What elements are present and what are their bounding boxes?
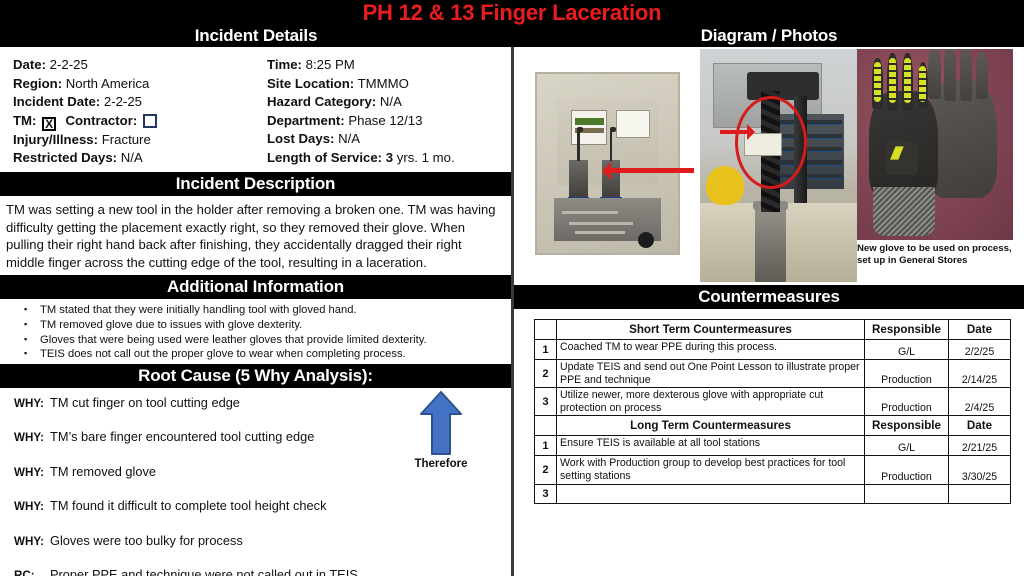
row-number: 1 xyxy=(535,436,557,456)
row-responsible: G/L xyxy=(865,340,949,360)
list-item: TM stated that they were initially handl… xyxy=(6,303,505,318)
why-text: TM cut finger on tool cutting edge xyxy=(50,395,240,410)
table-row: 3 Utilize newer, more dexterous glove wi… xyxy=(535,388,1011,416)
section-header-additional-information: Additional Information xyxy=(0,275,511,299)
row-text xyxy=(557,484,865,503)
row-text: Update TEIS and send out One Point Lesso… xyxy=(557,360,865,388)
field-length-of-service-unit: yrs. 1 mo. xyxy=(393,150,455,165)
row-number: 3 xyxy=(535,388,557,416)
photo-gallery: New glove to be used on process, set up … xyxy=(514,47,1024,285)
section-header-countermeasures: Countermeasures xyxy=(514,285,1024,309)
photo-caption: New glove to be used on process, set up … xyxy=(857,243,1021,267)
field-department-label: Department: xyxy=(267,113,345,128)
field-incident-date-label: Incident Date: xyxy=(13,94,100,109)
rc-label: RC: xyxy=(14,568,50,576)
row-date: 3/30/25 xyxy=(949,456,1011,484)
band-diagram-photos: Diagram / Photos xyxy=(514,26,1024,47)
table-row: 2 Work with Production group to develop … xyxy=(535,456,1011,484)
incident-details-grid: Date: 2-2-25 Region: North America Incid… xyxy=(0,47,511,172)
field-injury-illness-value: Fracture xyxy=(102,132,151,147)
band-incident-details: Incident Details xyxy=(0,26,512,47)
why-label: WHY: xyxy=(14,534,50,549)
table-row: 3 xyxy=(535,484,1011,503)
why-label: WHY: xyxy=(14,499,50,514)
row-text: Coached TM to wear PPE during this proce… xyxy=(557,340,865,360)
left-column: Date: 2-2-25 Region: North America Incid… xyxy=(0,47,511,576)
row-responsible: Production xyxy=(865,388,949,416)
tm-checkbox[interactable]: X xyxy=(42,117,56,131)
why-text: TM removed glove xyxy=(50,464,156,479)
row-text: Ensure TEIS is available at all tool sta… xyxy=(557,436,865,456)
why-text: Gloves were too bulky for process xyxy=(50,533,243,548)
row-number: 2 xyxy=(535,456,557,484)
why-label: WHY: xyxy=(14,430,50,445)
therefore-annotation: Therefore xyxy=(393,390,489,470)
field-site-location: Site Location: TMMMO xyxy=(267,75,511,94)
row-date: 2/4/25 xyxy=(949,388,1011,416)
row-date: 2/2/25 xyxy=(949,340,1011,360)
field-date: Date: 2-2-25 xyxy=(13,56,257,75)
col-header-short-term: Short Term Countermeasures xyxy=(557,320,865,340)
field-hazard-category-label: Hazard Category: xyxy=(267,94,376,109)
field-time-value: 8:25 PM xyxy=(306,57,355,72)
col-header-responsible: Responsible xyxy=(865,320,949,340)
contractor-checkbox[interactable] xyxy=(143,114,157,128)
field-injury-illness-label: Injury/Illness: xyxy=(13,132,98,147)
field-lost-days: Lost Days: N/A xyxy=(267,130,511,149)
field-region: Region: North America xyxy=(13,75,257,94)
table-row: 2 Update TEIS and send out One Point Les… xyxy=(535,360,1011,388)
page-title: PH 12 & 13 Finger Laceration xyxy=(0,0,1024,26)
countermeasures-table: Short Term Countermeasures Responsible D… xyxy=(534,319,1011,504)
field-length-of-service: Length of Service: 3 yrs. 1 mo. xyxy=(267,149,511,168)
field-tm-contractor: TM: X Contractor: xyxy=(13,112,257,131)
row-number: 1 xyxy=(535,340,557,360)
field-restricted-days-label: Restricted Days: xyxy=(13,150,117,165)
row-responsible: G/L xyxy=(865,436,949,456)
field-incident-date: Incident Date: 2-2-25 xyxy=(13,93,257,112)
field-length-of-service-number: 3 xyxy=(386,150,393,165)
list-item: TM removed glove due to issues with glov… xyxy=(6,318,505,333)
root-cause-body: WHY:TM cut finger on tool cutting edge W… xyxy=(0,388,511,556)
up-arrow-icon xyxy=(393,390,489,456)
row-date: 2/21/25 xyxy=(949,436,1011,456)
countermeasures-table-wrap: Short Term Countermeasures Responsible D… xyxy=(514,309,1024,504)
therefore-label: Therefore xyxy=(393,458,489,470)
field-contractor-label: Contractor: xyxy=(65,113,137,128)
field-site-location-label: Site Location: xyxy=(267,76,354,91)
cutting-tool-closeup-photo xyxy=(700,49,857,282)
row-number: 3 xyxy=(535,484,557,503)
field-department: Department: Phase 12/13 xyxy=(267,112,511,131)
why-row: WHY:Gloves were too bulky for process xyxy=(0,533,511,549)
list-item: TEIS does not call out the proper glove … xyxy=(6,347,505,362)
table-row: 1 Ensure TEIS is available at all tool s… xyxy=(535,436,1011,456)
incident-report-page: PH 12 & 13 Finger Laceration Incident De… xyxy=(0,0,1024,576)
red-pointer-arrow-icon xyxy=(604,168,694,173)
row-responsible: Production xyxy=(865,360,949,388)
table-subheader-row: Long Term Countermeasures Responsible Da… xyxy=(535,416,1011,436)
field-date-label: Date: xyxy=(13,57,46,72)
field-department-value: Phase 12/13 xyxy=(348,113,422,128)
row-date xyxy=(949,484,1011,503)
field-time-label: Time: xyxy=(267,57,302,72)
field-site-location-value: TMMMO xyxy=(358,76,409,91)
table-header-row: Short Term Countermeasures Responsible D… xyxy=(535,320,1011,340)
field-incident-date-value: 2-2-25 xyxy=(104,94,142,109)
row-responsible xyxy=(865,484,949,503)
field-restricted-days: Restricted Days: N/A xyxy=(13,149,257,168)
section-header-root-cause: Root Cause (5 Why Analysis): xyxy=(0,364,511,388)
additional-information-list: TM stated that they were initially handl… xyxy=(0,299,511,363)
why-row: WHY:TM found it difficult to complete to… xyxy=(0,498,511,514)
col-header-date: Date xyxy=(949,320,1011,340)
section-header-incident-description: Incident Description xyxy=(0,172,511,196)
col-header-num xyxy=(535,320,557,340)
field-hazard-category: Hazard Category: N/A xyxy=(267,93,511,112)
col-header-num-long xyxy=(535,416,557,436)
incident-details-left-column: Date: 2-2-25 Region: North America Incid… xyxy=(0,56,257,168)
row-date: 2/14/25 xyxy=(949,360,1011,388)
field-lost-days-value: N/A xyxy=(338,131,360,146)
new-glove-photo xyxy=(857,49,1013,240)
col-header-responsible-long: Responsible xyxy=(865,416,949,436)
row-number: 2 xyxy=(535,360,557,388)
incident-details-right-column: Time: 8:25 PM Site Location: TMMMO Hazar… xyxy=(257,56,511,168)
tool-holder-machine-photo xyxy=(521,54,694,273)
field-restricted-days-value: N/A xyxy=(121,150,143,165)
field-region-label: Region: xyxy=(13,76,62,91)
field-lost-days-label: Lost Days: xyxy=(267,131,334,146)
field-time: Time: 8:25 PM xyxy=(267,56,511,75)
right-column: New glove to be used on process, set up … xyxy=(514,47,1024,576)
field-injury-illness: Injury/Illness: Fracture xyxy=(13,131,257,150)
rc-text: Proper PPE and technique were not called… xyxy=(50,567,358,576)
why-text: TM found it difficult to complete tool h… xyxy=(50,498,326,513)
why-label: WHY: xyxy=(14,396,50,411)
field-date-value: 2-2-25 xyxy=(50,57,88,72)
list-item: Gloves that were being used were leather… xyxy=(6,333,505,348)
why-text: TM’s bare finger encountered tool cuttin… xyxy=(50,429,314,444)
row-text: Work with Production group to develop be… xyxy=(557,456,865,484)
row-text: Utilize newer, more dexterous glove with… xyxy=(557,388,865,416)
field-length-of-service-label: Length of Service: xyxy=(267,150,382,165)
row-responsible: Production xyxy=(865,456,949,484)
field-hazard-category-value: N/A xyxy=(380,94,402,109)
field-region-value: North America xyxy=(66,76,150,91)
root-cause-row: RC:Proper PPE and technique were not cal… xyxy=(0,567,511,576)
red-circle-callout-icon xyxy=(735,96,807,189)
field-tm-label: TM: xyxy=(13,113,36,128)
incident-description-body: TM was setting a new tool in the holder … xyxy=(0,196,511,275)
why-label: WHY: xyxy=(14,465,50,480)
table-row: 1 Coached TM to wear PPE during this pro… xyxy=(535,340,1011,360)
col-header-long-term: Long Term Countermeasures xyxy=(557,416,865,436)
col-header-date-long: Date xyxy=(949,416,1011,436)
